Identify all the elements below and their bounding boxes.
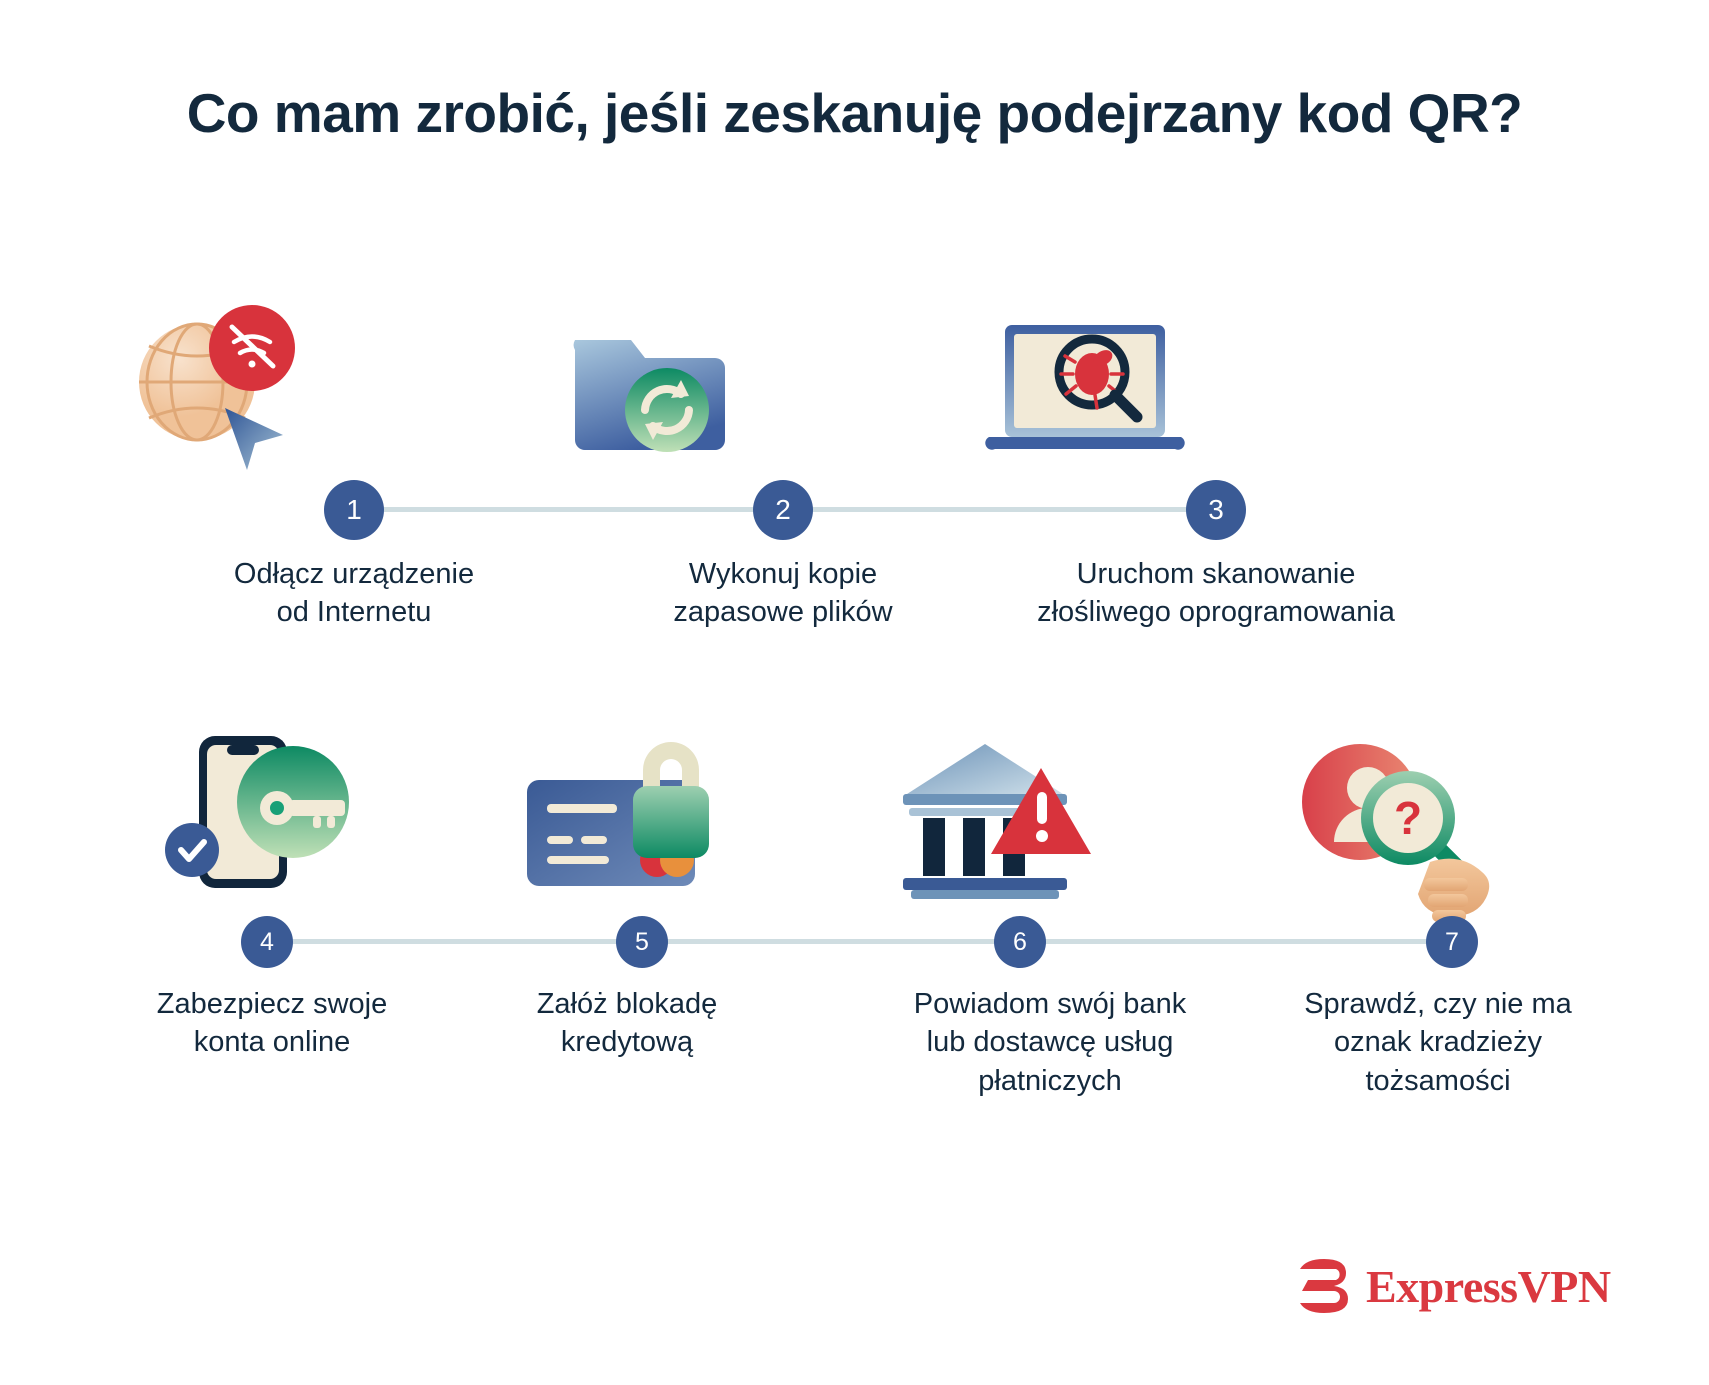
step-number-1[interactable]: 1: [324, 480, 384, 540]
connector-5-6: [668, 939, 1046, 944]
step-1-icon-area: [0, 290, 430, 480]
svg-text:?: ?: [1394, 792, 1422, 844]
globe-wifi-off-cursor-icon: [115, 300, 315, 480]
step-2-icon-area: [430, 290, 860, 480]
step-3-icon-area: [860, 290, 1290, 480]
expressvpn-logo-mark: [1290, 1255, 1352, 1317]
step-number-3[interactable]: 3: [1186, 480, 1246, 540]
connector-4-5: [293, 939, 668, 944]
step-4-icon-area: [100, 720, 430, 910]
step-6-icon-area: [800, 720, 1170, 910]
row-1-icons: [0, 290, 1709, 480]
step-5-label: Załóż blokadę kredytową: [462, 985, 792, 1062]
laptop-malware-scan-icon: [975, 300, 1175, 480]
identity-theft-magnifier-icon: ?: [1280, 730, 1480, 910]
connector-2-3: [812, 507, 1215, 512]
expressvpn-logo[interactable]: ExpressVPN: [1290, 1255, 1611, 1317]
step-number-5[interactable]: 5: [616, 916, 668, 968]
step-rail-row-2: 4 5 6 7: [0, 912, 1709, 972]
credit-card-lock-icon: [515, 730, 715, 910]
step-6-label: Powiadom swój bank lub dostawcę usług pł…: [860, 985, 1240, 1100]
step-1-label: Odłącz urządzenie od Internetu: [154, 555, 554, 632]
phone-key-secure-icon: [165, 730, 365, 910]
step-7-icon-area: ?: [1170, 720, 1590, 910]
step-2-label: Wykonuj kopie zapasowe plików: [583, 555, 983, 632]
step-number-4[interactable]: 4: [241, 916, 293, 968]
step-3-label: Uruchom skanowanie złośliwego oprogramow…: [996, 555, 1436, 632]
step-number-6[interactable]: 6: [994, 916, 1046, 968]
connector-6-7: [1046, 939, 1426, 944]
step-number-2[interactable]: 2: [753, 480, 813, 540]
infographic-page: Co mam zrobić, jeśli zeskanuję podejrzan…: [0, 0, 1709, 1385]
step-5-icon-area: [430, 720, 800, 910]
step-7-label: Sprawdź, czy nie ma oznak kradzieży tożs…: [1268, 985, 1608, 1100]
bank-warning-icon: [885, 730, 1085, 910]
step-4-label: Zabezpiecz swoje konta online: [82, 985, 462, 1062]
step-rail-row-1: 1 2 3: [0, 480, 1709, 540]
step-number-7[interactable]: 7: [1426, 916, 1478, 968]
connector-1-2: [383, 507, 788, 512]
page-title: Co mam zrobić, jeśli zeskanuję podejrzan…: [0, 78, 1709, 148]
row-2-icons: ?: [0, 720, 1709, 910]
folder-backup-sync-icon: [545, 300, 745, 480]
expressvpn-logo-text: ExpressVPN: [1366, 1260, 1611, 1313]
